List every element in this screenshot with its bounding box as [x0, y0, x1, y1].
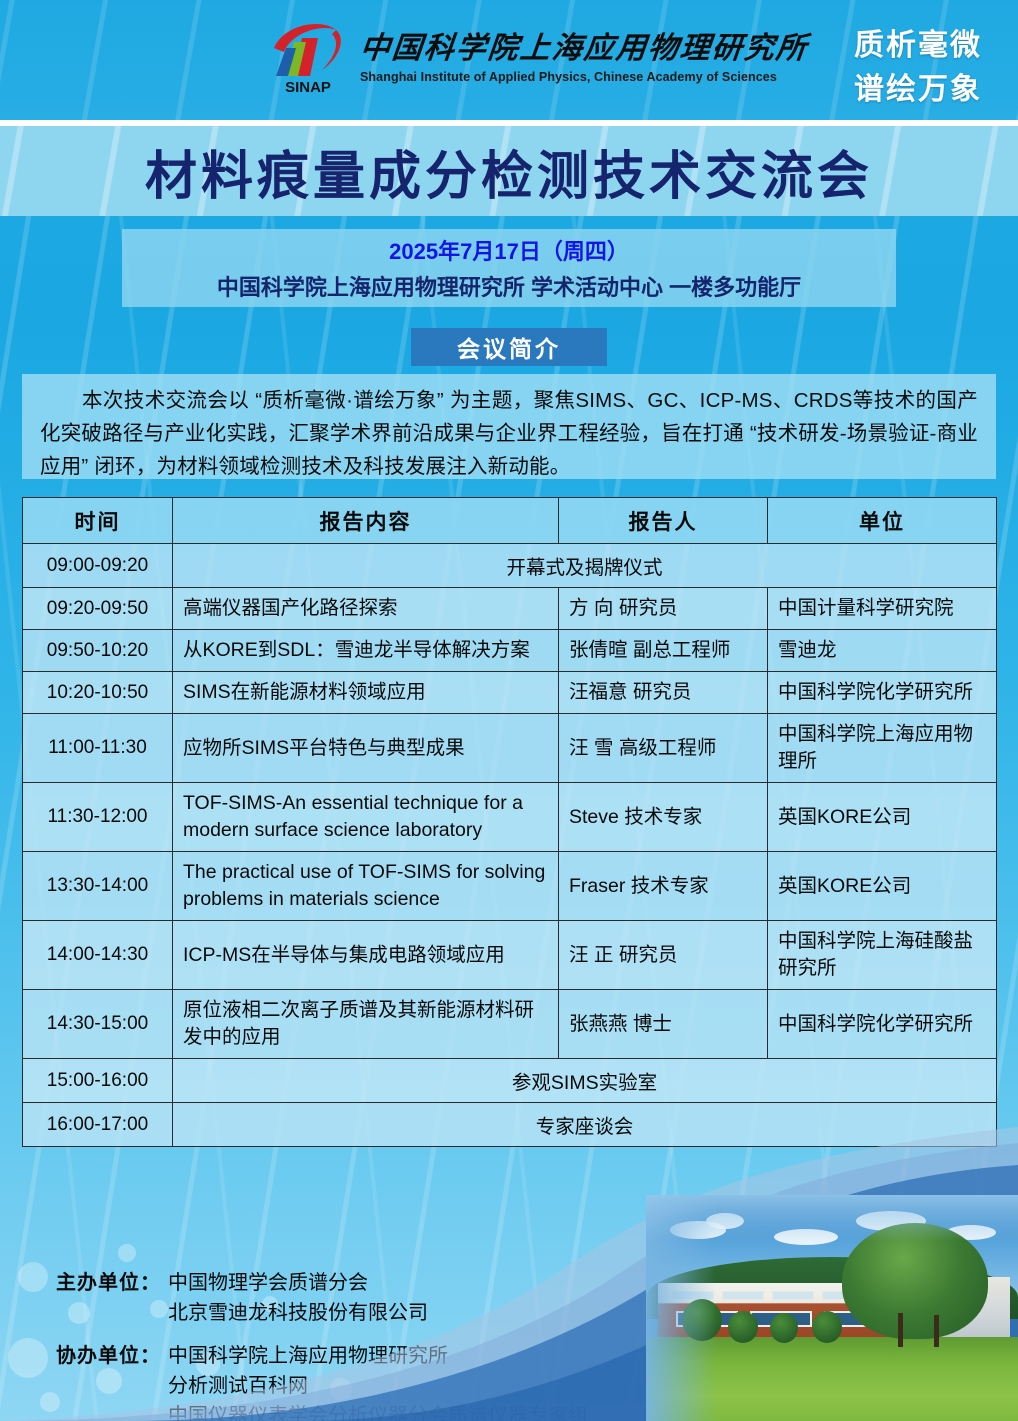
cell-topic: ICP-MS在半导体与集成电路领域应用 — [173, 921, 559, 990]
institute-name-en: Shanghai Institute of Applied Physics, C… — [360, 70, 808, 84]
conference-slogan: 质析毫微 谱绘万象 — [854, 24, 982, 111]
section-badge-intro: 会议简介 — [411, 328, 607, 366]
cell-speaker: 张燕燕 博士 — [559, 990, 768, 1059]
cell-time: 09:50-10:20 — [23, 630, 173, 672]
cell-time: 10:20-10:50 — [23, 672, 173, 714]
institute-name-cn: 中国科学院上海应用物理研究所 — [358, 30, 810, 68]
host-label: 主办单位： — [56, 1268, 168, 1328]
table-row: 09:00-09:20开幕式及揭牌仪式 — [23, 544, 997, 588]
table-row: 10:20-10:50SIMS在新能源材料领域应用汪福意 研究员中国科学院化学研… — [23, 672, 997, 714]
institute-logo: SINAP 中国科学院上海应用物理研究所 Shanghai Institute … — [266, 18, 808, 96]
cell-time: 16:00-17:00 — [23, 1103, 173, 1147]
host-item: 北京雪迪龙科技股份有限公司 — [168, 1298, 428, 1328]
title-band: 材料痕量成分检测技术交流会 — [0, 126, 1018, 216]
table-row: 11:30-12:00TOF-SIMS-An essential techniq… — [23, 783, 997, 852]
table-row: 16:00-17:00专家座谈会 — [23, 1103, 997, 1147]
column-header-speaker: 报告人 — [559, 498, 768, 544]
cell-time: 14:00-14:30 — [23, 921, 173, 990]
page-title: 材料痕量成分检测技术交流会 — [145, 134, 873, 209]
host-list: 中国物理学会质谱分会 北京雪迪龙科技股份有限公司 — [168, 1268, 428, 1328]
table-row: 15:00-16:00参观SIMS实验室 — [23, 1059, 997, 1103]
building-window-strip — [772, 1291, 814, 1300]
column-header-topic: 报告内容 — [173, 498, 559, 544]
coorganizer-item: 中国仪器仪表学会分析仪器分会质谱仪器专家组 — [168, 1401, 588, 1421]
bokeh-circle — [118, 1244, 136, 1262]
bokeh-circle — [18, 1262, 48, 1292]
organizers-section: 主办单位： 中国物理学会质谱分会 北京雪迪龙科技股份有限公司 协办单位： 中国科… — [56, 1268, 696, 1421]
svg-text:SINAP: SINAP — [285, 79, 331, 96]
cell-time: 13:30-14:00 — [23, 852, 173, 921]
cell-topic: 原位液相二次离子质谱及其新能源材料研发中的应用 — [173, 990, 559, 1059]
small-tree — [728, 1311, 758, 1343]
cell-speaker: Fraser 技术专家 — [559, 852, 768, 921]
host-group: 主办单位： 中国物理学会质谱分会 北京雪迪龙科技股份有限公司 — [56, 1268, 696, 1328]
coorganizer-group: 协办单位： 中国科学院上海应用物理研究所 分析测试百科网 中国仪器仪表学会分析仪… — [56, 1341, 696, 1421]
bokeh-circle — [8, 1338, 48, 1378]
cell-time: 11:30-12:00 — [23, 783, 173, 852]
schedule-table-body: 09:00-09:20开幕式及揭牌仪式09:20-09:50高端仪器国产化路径探… — [23, 544, 997, 1147]
intro-box: 本次技术交流会以 “质析毫微·谱绘万象” 为主题，聚焦SIMS、GC、ICP-M… — [22, 374, 996, 479]
cell-session-full-width: 开幕式及揭牌仪式 — [173, 544, 997, 588]
host-item: 中国物理学会质谱分会 — [168, 1268, 428, 1298]
poster-header: SINAP 中国科学院上海应用物理研究所 Shanghai Institute … — [0, 0, 1018, 120]
cell-speaker: Steve 技术专家 — [559, 783, 768, 852]
cell-session-full-width: 参观SIMS实验室 — [173, 1059, 997, 1103]
conference-poster: SINAP 中国科学院上海应用物理研究所 Shanghai Institute … — [0, 0, 1018, 1421]
slogan-line-2: 谱绘万象 — [854, 68, 982, 112]
date-venue-band: 2025年7月17日（周四） 中国科学院上海应用物理研究所 学术活动中心 一楼多… — [122, 229, 896, 307]
cell-time: 09:00-09:20 — [23, 544, 173, 588]
schedule-table-wrapper: 时间 报告内容 报告人 单位 09:00-09:20开幕式及揭牌仪式09:20-… — [22, 497, 996, 1147]
cell-session-full-width: 专家座谈会 — [173, 1103, 997, 1147]
cell-topic: TOF-SIMS-An essential technique for a mo… — [173, 783, 559, 852]
campus-photo — [646, 1195, 1018, 1421]
cell-topic: The practical use of TOF-SIMS for solvin… — [173, 852, 559, 921]
cell-organization: 中国科学院上海硅酸盐研究所 — [768, 921, 997, 990]
cell-speaker: 汪 正 研究员 — [559, 921, 768, 990]
table-row: 09:20-09:50高端仪器国产化路径探索方 向 研究员中国计量科学研究院 — [23, 588, 997, 630]
coorganizer-item: 分析测试百科网 — [168, 1371, 588, 1401]
cell-organization: 中国计量科学研究院 — [768, 588, 997, 630]
cell-time: 11:00-11:30 — [23, 714, 173, 783]
cell-topic: SIMS在新能源材料领域应用 — [173, 672, 559, 714]
tree-trunk — [898, 1313, 903, 1347]
photo-edge-fade-top — [646, 1195, 1018, 1241]
tree-trunk — [934, 1315, 939, 1347]
small-tree — [812, 1311, 842, 1343]
coorganizer-list: 中国科学院上海应用物理研究所 分析测试百科网 中国仪器仪表学会分析仪器分会质谱仪… — [168, 1341, 588, 1421]
table-row: 14:30-15:00原位液相二次离子质谱及其新能源材料研发中的应用张燕燕 博士… — [23, 990, 997, 1059]
cell-topic: 应物所SIMS平台特色与典型成果 — [173, 714, 559, 783]
table-row: 09:50-10:20从KORE到SDL：雪迪龙半导体解决方案张倩暄 副总工程师… — [23, 630, 997, 672]
cell-organization: 中国科学院上海应用物理所 — [768, 714, 997, 783]
cell-organization: 雪迪龙 — [768, 630, 997, 672]
cell-topic: 从KORE到SDL：雪迪龙半导体解决方案 — [173, 630, 559, 672]
intro-paragraph: 本次技术交流会以 “质析毫微·谱绘万象” 为主题，聚焦SIMS、GC、ICP-M… — [40, 384, 978, 483]
building-window-strip — [722, 1291, 764, 1300]
table-row: 13:30-14:00The practical use of TOF-SIMS… — [23, 852, 997, 921]
cell-time: 15:00-16:00 — [23, 1059, 173, 1103]
column-header-org: 单位 — [768, 498, 997, 544]
cell-time: 14:30-15:00 — [23, 990, 173, 1059]
sinap-logo-mark-icon: SINAP — [266, 18, 350, 96]
cell-speaker: 汪福意 研究员 — [559, 672, 768, 714]
cell-speaker: 张倩暄 副总工程师 — [559, 630, 768, 672]
small-tree — [770, 1313, 798, 1343]
slogan-line-1: 质析毫微 — [854, 24, 982, 68]
table-header-row: 时间 报告内容 报告人 单位 — [23, 498, 997, 544]
cell-organization: 中国科学院化学研究所 — [768, 990, 997, 1059]
table-row: 14:00-14:30ICP-MS在半导体与集成电路领域应用汪 正 研究员中国科… — [23, 921, 997, 990]
column-header-time: 时间 — [23, 498, 173, 544]
conference-date: 2025年7月17日（周四） — [389, 234, 629, 266]
logo-wordmark: 中国科学院上海应用物理研究所 Shanghai Institute of App… — [360, 30, 808, 84]
cell-organization: 英国KORE公司 — [768, 783, 997, 852]
cell-speaker: 方 向 研究员 — [559, 588, 768, 630]
schedule-table: 时间 报告内容 报告人 单位 09:00-09:20开幕式及揭牌仪式09:20-… — [22, 497, 997, 1147]
coorganizer-label: 协办单位： — [56, 1341, 168, 1421]
cell-topic: 高端仪器国产化路径探索 — [173, 588, 559, 630]
cell-speaker: 汪 雪 高级工程师 — [559, 714, 768, 783]
conference-venue: 中国科学院上海应用物理研究所 学术活动中心 一楼多功能厅 — [217, 270, 801, 302]
table-row: 11:00-11:30应物所SIMS平台特色与典型成果汪 雪 高级工程师中国科学… — [23, 714, 997, 783]
cell-organization: 中国科学院化学研究所 — [768, 672, 997, 714]
coorganizer-item: 中国科学院上海应用物理研究所 — [168, 1341, 588, 1371]
cell-organization: 英国KORE公司 — [768, 852, 997, 921]
cell-time: 09:20-09:50 — [23, 588, 173, 630]
